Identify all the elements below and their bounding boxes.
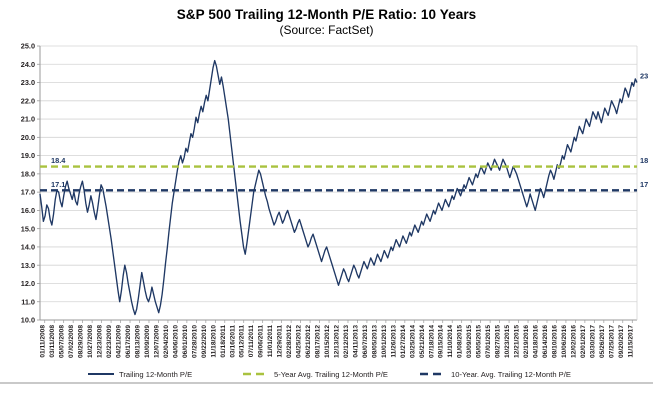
legend-label-0: Trailing 12-Month P/E [119,370,192,379]
x-axis-tick-label: 07/25/2017 [608,325,615,358]
x-axis-tick-label: 08/27/2015 [495,325,502,358]
x-axis-tick-label: 12/13/2012 [334,325,341,358]
x-axis-tick-label: 08/29/2008 [78,325,85,358]
x-axis-tick-label: 01/08/2015 [457,325,464,358]
x-axis-tick-label: 11/26/2013 [390,325,397,358]
x-axis-tick-label: 12/23/2008 [97,325,104,358]
x-axis-tick-label: 05/26/2017 [599,325,606,358]
x-axis-tick-label: 10/27/2008 [87,325,94,358]
y-axis-tick-label: 25.0 [21,42,35,51]
x-axis-tick-label: 04/18/2016 [533,325,540,358]
x-axis-tick-label: 07/01/2015 [485,325,492,358]
x-axis-tick-label: 03/09/2015 [466,325,473,358]
x-axis-tick-label: 07/02/2008 [68,325,75,358]
x-axis-tick-label: 02/23/2009 [106,325,113,358]
x-axis-tick-label: 01/18/2011 [220,325,227,358]
x-axis-tick-label: 11/10/2014 [447,325,454,358]
x-axis-tick-label: 08/10/2016 [551,325,558,358]
x-axis-tick-label: 08/05/2013 [371,325,378,358]
x-axis-tick-label: 06/01/2010 [182,325,189,358]
y-axis-tick-label: 24.0 [21,60,35,69]
reference-label-left-five-year-avg: 18.4 [51,156,66,165]
x-axis-tick-label: 11/01/2011 [267,325,274,358]
x-axis-tick-label: 02/01/2017 [580,325,587,358]
x-axis-tick-label: 12/21/2015 [514,325,521,358]
x-axis-tick-label: 10/09/2009 [144,325,151,358]
y-axis-tick-label: 22.0 [21,96,35,105]
x-axis-tick-label: 05/12/2011 [239,325,246,358]
x-axis-tick-label: 05/21/2014 [419,325,426,358]
x-axis-tick-label: 02/19/2016 [523,325,530,358]
y-axis-tick-label: 12.0 [21,279,35,288]
legend-label-1: 5-Year Avg. Trailing 12-Month P/E [274,370,388,379]
series-end-label: 23 [640,72,648,81]
x-axis-tick-label: 06/07/2013 [362,325,369,358]
x-axis-tick-label: 03/30/2017 [589,325,596,358]
x-axis-tick-label: 09/20/2017 [618,325,625,358]
x-axis-tick-label: 10/23/2015 [504,325,511,358]
x-axis-tick-label: 03/11/2008 [49,325,56,358]
y-axis-tick-label: 15.0 [21,224,35,233]
y-axis-tick-label: 19.0 [21,151,35,160]
reference-label-left-ten-year-avg: 17.1 [51,180,65,189]
x-axis-tick-label: 12/07/2009 [153,325,160,358]
x-axis-tick-label: 06/21/2012 [305,325,312,358]
y-axis-tick-label: 10.0 [21,316,35,325]
x-axis-tick-label: 04/06/2010 [172,325,179,358]
y-axis-tick-label: 18.0 [21,169,35,178]
x-axis-tick-label: 03/16/2011 [229,325,236,358]
x-axis-tick-label: 02/28/2012 [286,325,293,358]
x-axis-tick-label: 04/11/2013 [352,325,359,358]
x-axis-tick-label: 10/06/2016 [561,325,568,358]
y-axis-tick-label: 17.0 [21,188,35,197]
reference-label-right-five-year-avg: 18 [640,156,648,165]
x-axis-tick-label: 03/25/2014 [409,325,416,358]
y-axis-tick-label: 20.0 [21,133,35,142]
x-axis-tick-label: 05/05/2015 [476,325,483,358]
x-axis-tick-label: 12/02/2016 [570,325,577,358]
y-axis-tick-label: 14.0 [21,243,35,252]
x-axis-tick-label: 02/12/2013 [343,325,350,358]
x-axis-tick-label: 01/11/2008 [40,325,47,358]
x-axis-tick-label: 07/11/2011 [248,325,255,358]
x-axis-tick-label: 07/18/2014 [428,325,435,358]
chart-container: S&P 500 Trailing 12-Month P/E Ratio: 10 … [0,0,653,400]
x-axis-tick-label: 11/18/2010 [210,325,217,358]
x-axis-tick-label: 02/04/2010 [163,325,170,358]
legend-label-2: 10-Year. Avg. Trailing 12-Month P/E [451,370,571,379]
reference-label-right-ten-year-avg: 17 [640,180,648,189]
y-axis-tick-label: 13.0 [21,261,35,270]
x-axis-tick-label: 12/29/2011 [277,325,284,358]
x-axis-tick-label: 05/07/2008 [59,325,66,358]
x-axis-tick-label: 10/15/2012 [324,325,331,358]
line-chart-svg: 10.011.012.013.014.015.016.017.018.019.0… [0,0,653,400]
x-axis-tick-label: 04/21/2009 [116,325,123,358]
bottom-divider [0,382,653,384]
x-axis-tick-label: 01/27/2014 [400,325,407,358]
y-axis-tick-label: 11.0 [21,297,35,306]
x-axis-tick-label: 06/17/2009 [125,325,132,358]
plot-area: 10.011.012.013.014.015.016.017.018.019.0… [0,0,653,400]
x-axis-tick-label: 04/25/2012 [296,325,303,358]
y-axis-tick-label: 21.0 [21,115,35,124]
x-axis-tick-label: 09/22/2010 [201,325,208,358]
x-axis-tick-label: 07/28/2010 [191,325,198,358]
x-axis-tick-label: 09/15/2014 [438,325,445,358]
y-axis-tick-label: 23.0 [21,78,35,87]
x-axis-tick-label: 11/15/2017 [627,325,634,358]
x-axis-tick-label: 08/13/2009 [135,325,142,358]
x-axis-tick-label: 08/17/2012 [315,325,322,358]
x-axis-tick-label: 06/14/2016 [542,325,549,358]
x-axis-tick-label: 10/01/2013 [381,325,388,358]
x-axis-tick-label: 09/06/2011 [258,325,265,358]
y-axis-tick-label: 16.0 [21,206,35,215]
